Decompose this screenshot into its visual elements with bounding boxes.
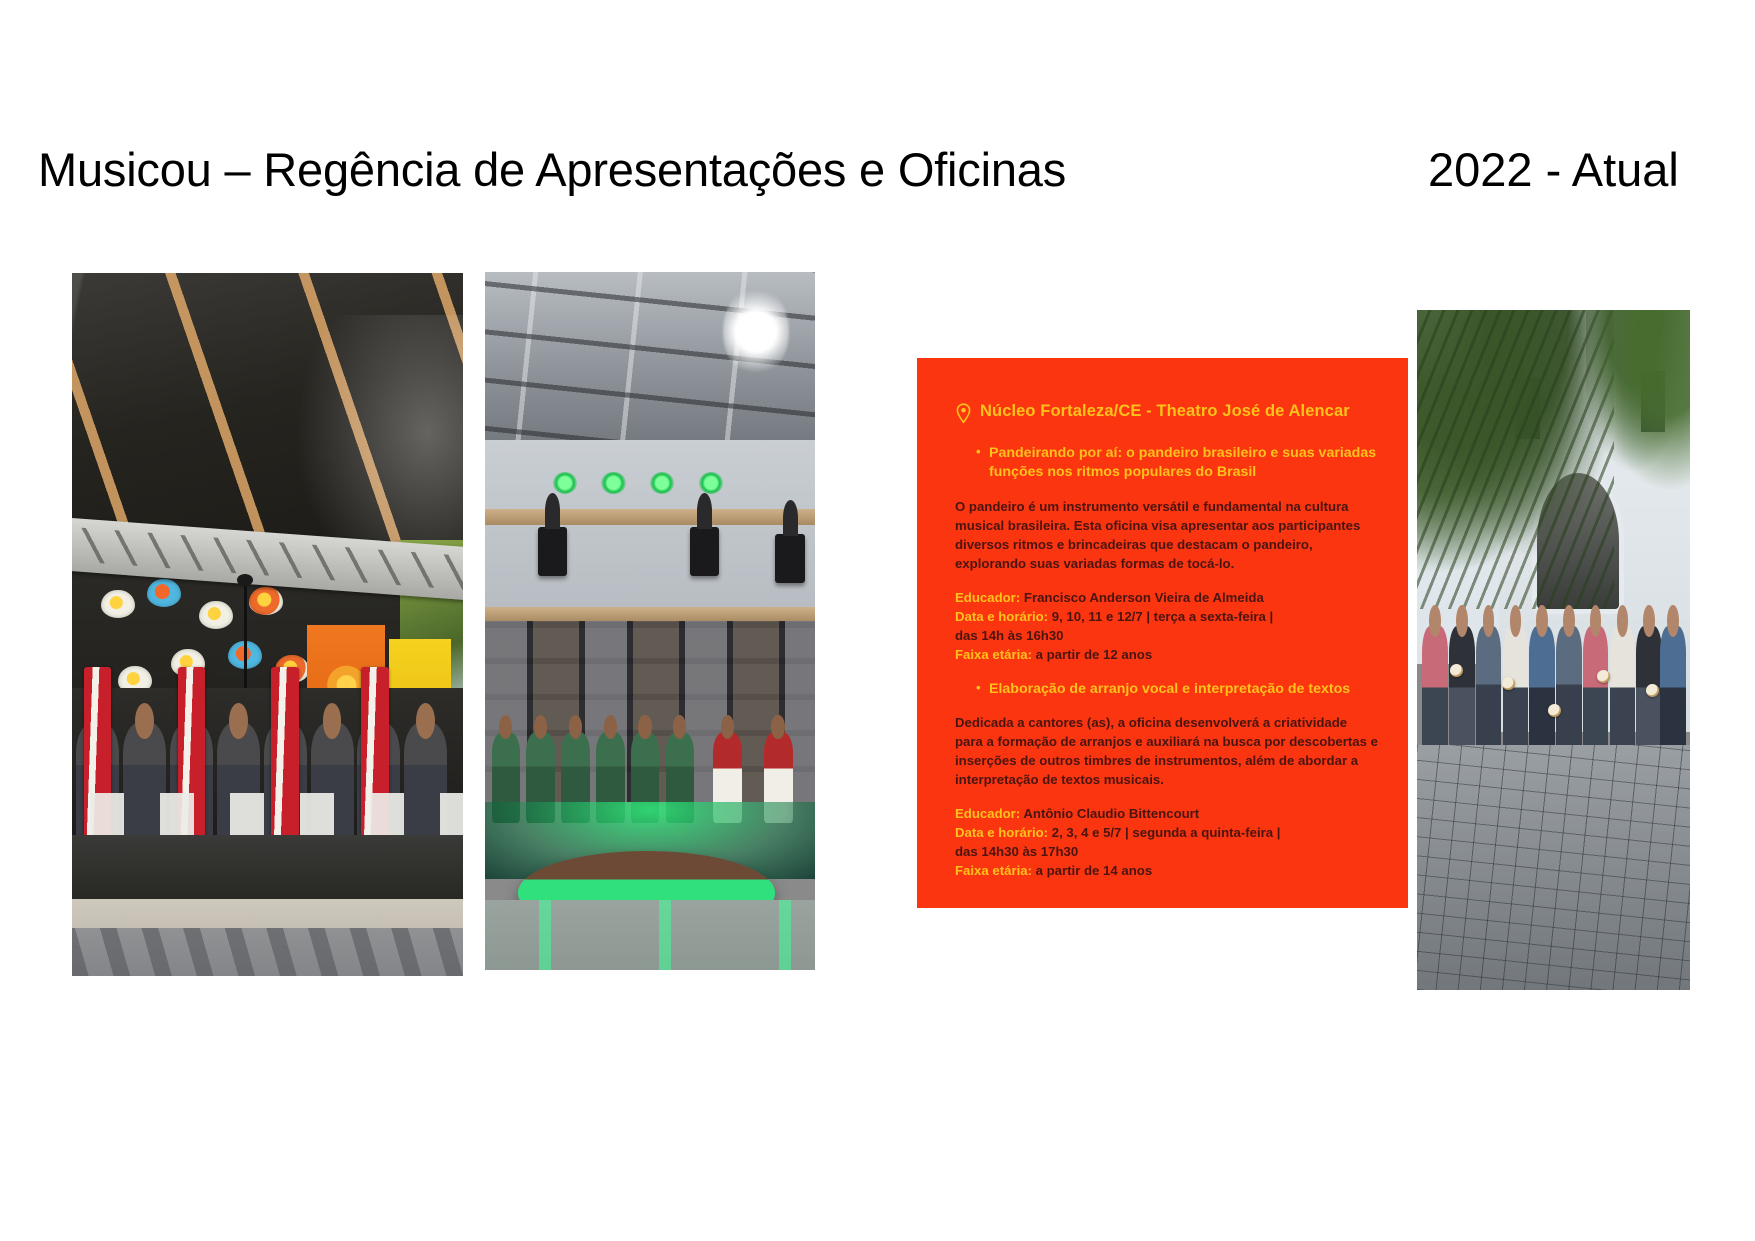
age-label: Faixa etária: [955,863,1032,878]
workshop-2-educator-line: Educador: Antônio Claudio Bittencourt [955,804,1378,823]
workshop-2-description: Dedicada a cantores (as), a oficina dese… [955,713,1378,789]
map-pin-icon [955,403,972,429]
workshop-2-title: Elaboração de arranjo vocal e interpreta… [977,680,1378,699]
tree-foliage-right [1586,310,1690,500]
tree-foliage-left [1417,310,1614,609]
workshop-1-age-line: Faixa etária: a partir de 12 anos [955,645,1378,664]
schedule-value: 2, 3, 4 e 5/7 | segunda a quinta-feira | [1048,825,1280,840]
ground-pavement [72,899,463,976]
photo-tent-stage [72,273,463,976]
photo-group-outside [1417,310,1690,990]
pandeiro [1450,664,1463,677]
poster-workshops: Núcleo Fortaleza/CE - Theatro José de Al… [917,358,1408,908]
wooden-beam [485,509,815,524]
workshop-2-details: Educador: Antônio Claudio Bittencourt Da… [955,804,1378,880]
foreground-floor [485,900,815,970]
back-wall [485,440,815,635]
workshop-2-schedule-time: das 14h30 às 17h30 [955,842,1378,861]
workshop-1-title: Pandeirando por aí: o pandeiro brasileir… [977,444,1378,483]
stage-spotlight [538,527,568,576]
age-label: Faixa etária: [955,647,1032,662]
workshop-2-age-line: Faixa etária: a partir de 14 anos [955,861,1378,880]
educator-label: Educador: [955,806,1020,821]
paved-sidewalk [1417,745,1690,990]
educator-label: Educador: [955,590,1020,605]
workshop-1-description: O pandeiro é um instrumento versátil e f… [955,497,1378,573]
photo-theatre-stage-content [485,272,815,970]
workshop-1-educator-line: Educador: Francisco Anderson Vieira de A… [955,588,1378,607]
age-value: a partir de 12 anos [1032,647,1152,662]
page-title: Musicou – Regência de Apresentações e Of… [38,143,1066,197]
slide-date-range: 2022 - Atual [1428,143,1679,197]
stage-spotlight [690,527,720,576]
stage-spotlight [775,534,805,583]
educator-name: Francisco Anderson Vieira de Almeida [1020,590,1264,605]
poster-content: Núcleo Fortaleza/CE - Theatro José de Al… [917,358,1408,908]
schedule-label: Data e horário: [955,825,1048,840]
age-value: a partir de 14 anos [1032,863,1152,878]
workshop-2-schedule-line: Data e horário: 2, 3, 4 e 5/7 | segunda … [955,823,1378,842]
schedule-value: 9, 10, 11 e 12/7 | terça a sexta-feira | [1048,609,1273,624]
poster-location-heading: Núcleo Fortaleza/CE - Theatro José de Al… [955,402,1378,429]
workshop-1-schedule-time: das 14h às 16h30 [955,626,1378,645]
educator-name: Antônio Claudio Bittencourt [1020,806,1199,821]
poster-location-title: Núcleo Fortaleza/CE - Theatro José de Al… [980,402,1350,420]
schedule-label: Data e horário: [955,609,1048,624]
photo-group-outside-content [1417,310,1690,990]
workshop-1-schedule-line: Data e horário: 9, 10, 11 e 12/7 | terça… [955,607,1378,626]
green-stage-lights [498,472,802,494]
photo-tent-stage-content [72,273,463,976]
ceiling-lamp [723,286,789,377]
pandeiro [1502,677,1515,690]
photo-theatre-stage [485,272,815,970]
workshop-1-details: Educador: Francisco Anderson Vieira de A… [955,588,1378,664]
